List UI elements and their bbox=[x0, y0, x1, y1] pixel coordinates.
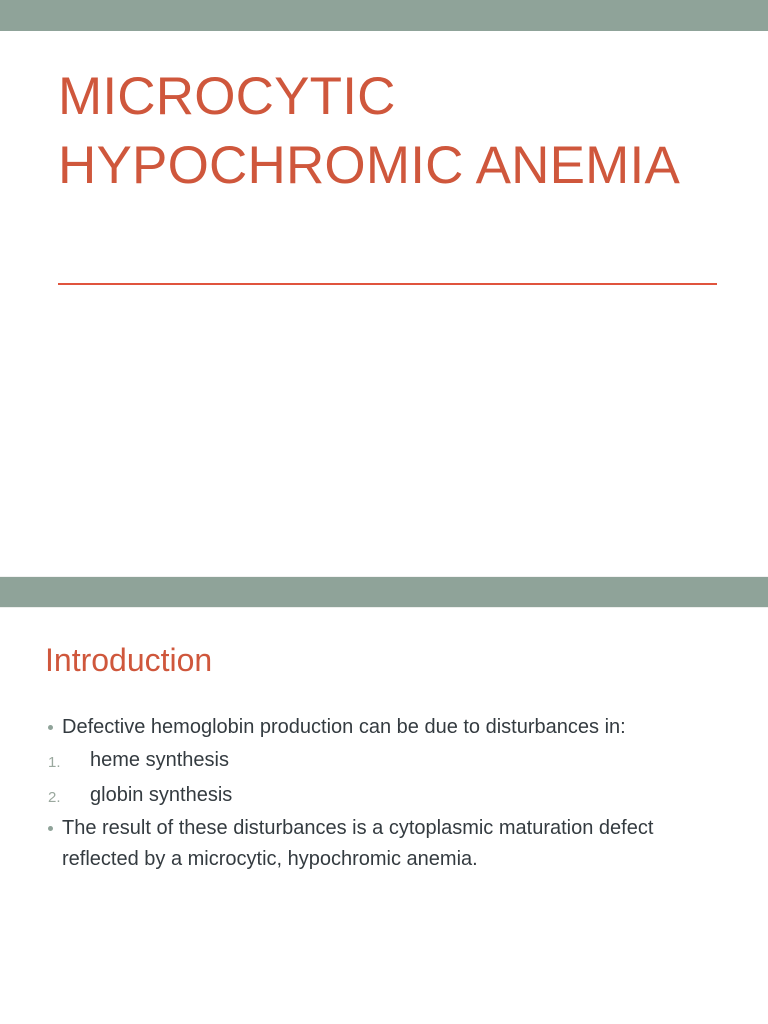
list-item-text: heme synthesis bbox=[90, 749, 229, 771]
accent-bar-second bbox=[0, 577, 768, 607]
document-page: MICROCYTIC HYPOCHROMIC ANEMIA Introducti… bbox=[0, 0, 768, 1024]
list-item-text: globin synthesis bbox=[90, 784, 232, 806]
list-item-bullet-1: Defective hemoglobin production can be d… bbox=[45, 712, 725, 743]
list-item-text: The result of these disturbances is a cy… bbox=[62, 817, 653, 870]
slide-introduction: Introduction Defective hemoglobin produc… bbox=[0, 577, 768, 1024]
title-underline-rule bbox=[58, 283, 717, 285]
list-item-numbered-1: 1. heme synthesis bbox=[45, 743, 725, 778]
slide-top-edge bbox=[0, 607, 768, 608]
body-content-list: Defective hemoglobin production can be d… bbox=[45, 712, 725, 875]
page-title: MICROCYTIC HYPOCHROMIC ANEMIA bbox=[58, 62, 718, 200]
list-item-text: Defective hemoglobin production can be d… bbox=[62, 716, 626, 738]
list-item-number: 2. bbox=[48, 780, 61, 815]
accent-bar-top bbox=[0, 0, 768, 31]
section-heading-introduction: Introduction bbox=[45, 640, 212, 680]
list-item-bullet-2: The result of these disturbances is a cy… bbox=[45, 813, 725, 875]
list-item-numbered-2: 2. globin synthesis bbox=[45, 778, 725, 813]
title-block: MICROCYTIC HYPOCHROMIC ANEMIA bbox=[58, 62, 718, 200]
list-item-number: 1. bbox=[48, 745, 61, 780]
slide-title: MICROCYTIC HYPOCHROMIC ANEMIA bbox=[0, 0, 768, 576]
